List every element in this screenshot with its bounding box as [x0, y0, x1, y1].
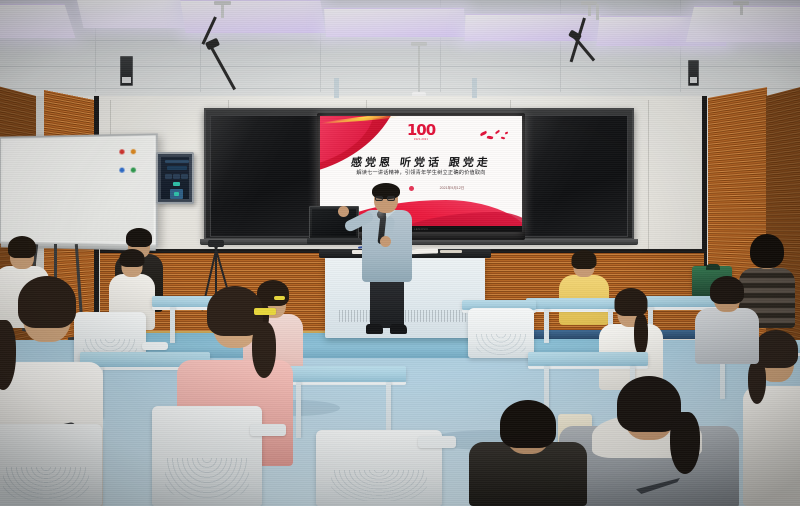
slide-subtitle: 解读七一讲话精神，引领青年学生树立正确的价值取向	[320, 169, 522, 176]
dove-decoration-icon	[478, 130, 510, 144]
student-chair	[0, 424, 102, 506]
student-ponytail	[252, 322, 276, 378]
presenter-shoe-left	[366, 324, 383, 334]
student-hair	[750, 234, 784, 268]
student-hair	[126, 228, 152, 247]
student-hair	[120, 249, 145, 267]
student-hair	[18, 276, 76, 328]
backpack-strap	[706, 264, 720, 270]
presenter-legs	[370, 278, 404, 328]
blackboard-panel-right	[515, 115, 628, 237]
lectern-leg	[334, 78, 339, 98]
chair-armrest	[250, 424, 286, 436]
presenter-hand-left	[338, 206, 349, 217]
wall-speaker	[688, 60, 699, 86]
student-chair	[152, 406, 262, 506]
student	[694, 278, 760, 364]
desk-leg	[386, 382, 391, 436]
lectern-leg	[472, 78, 477, 98]
whiteboard-magnets	[118, 142, 149, 179]
ceiling-light-panel	[180, 0, 325, 33]
control-panel-screen[interactable]	[161, 157, 189, 199]
student-desk	[528, 352, 648, 366]
student-ponytail	[748, 360, 766, 404]
student-body	[743, 386, 800, 506]
chair-armrest	[418, 436, 456, 448]
student-ponytail	[634, 314, 648, 356]
student-chair	[468, 308, 534, 358]
ceiling-light-panel	[0, 4, 76, 38]
desk-leg	[544, 309, 549, 343]
student-hair	[572, 250, 597, 269]
slide-date: 2021年9月12日	[440, 186, 465, 191]
presenter	[352, 186, 422, 342]
student-hair	[615, 288, 648, 316]
slide-title: 感党恩 听党话 跟党走	[320, 154, 522, 170]
classroom-photo: 100 1921-2021 感党恩 听党话 跟党走 解读七一讲话精神，引领青年学…	[0, 0, 800, 506]
wall-control-panel[interactable]	[156, 152, 194, 204]
desk-remote[interactable]	[440, 250, 462, 253]
hair-clip	[254, 308, 276, 315]
student-hair	[710, 276, 744, 304]
presenter-shoe-right	[390, 324, 407, 334]
cpc-centenary-emblem: 100 1921-2021	[407, 123, 435, 142]
blackboard-panel-left	[210, 115, 323, 237]
presenter-glasses	[375, 196, 397, 201]
emblem-number: 100	[407, 123, 435, 138]
emblem-caption: 1921-2021	[407, 139, 435, 142]
presenter-hand-right	[380, 236, 391, 247]
student-hair	[8, 236, 36, 258]
wall-speaker	[120, 56, 133, 86]
student-body	[695, 308, 759, 364]
student-hair	[500, 400, 556, 448]
ceiling-light-panel	[324, 8, 466, 37]
chair-armrest	[142, 342, 168, 350]
